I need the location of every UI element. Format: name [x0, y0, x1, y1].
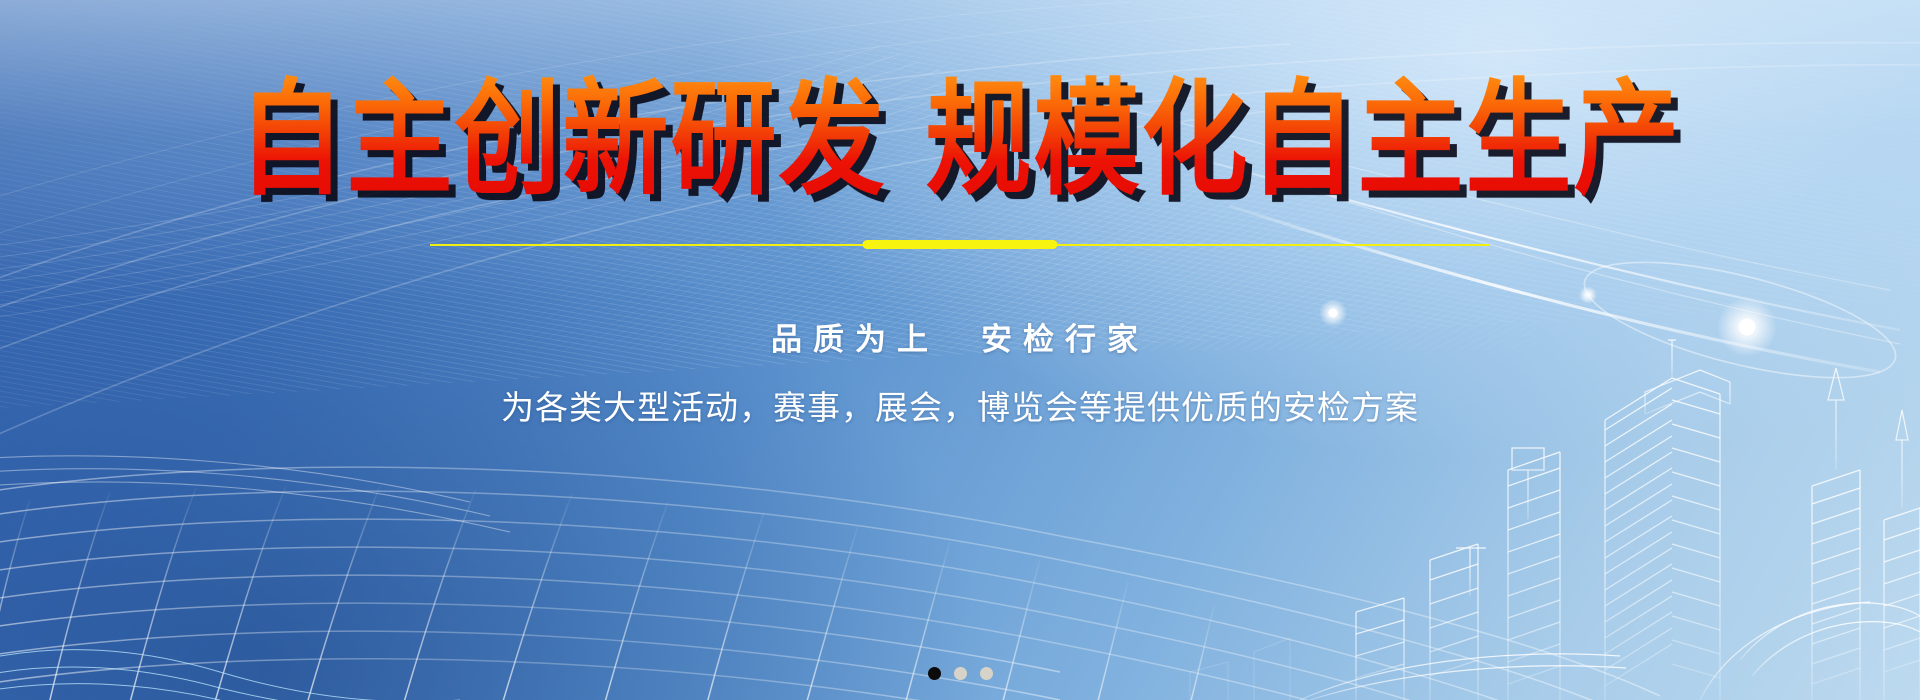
banner-content: 自主创新研发 规模化自主生产 品质为上 安检行家 为各类大型活动，赛事，展会，博…	[0, 0, 1920, 700]
banner-headline: 自主创新研发 规模化自主生产	[239, 74, 1682, 207]
banner-subtitle-description: 为各类大型活动，赛事，展会，博览会等提供优质的安检方案	[501, 381, 1419, 429]
divider-center-bar	[863, 240, 1058, 249]
banner-subtitle-main: 品质为上 安检行家	[771, 314, 1149, 359]
decorative-divider	[430, 238, 1490, 252]
hero-banner: 自主创新研发 规模化自主生产 品质为上 安检行家 为各类大型活动，赛事，展会，博…	[0, 0, 1920, 700]
